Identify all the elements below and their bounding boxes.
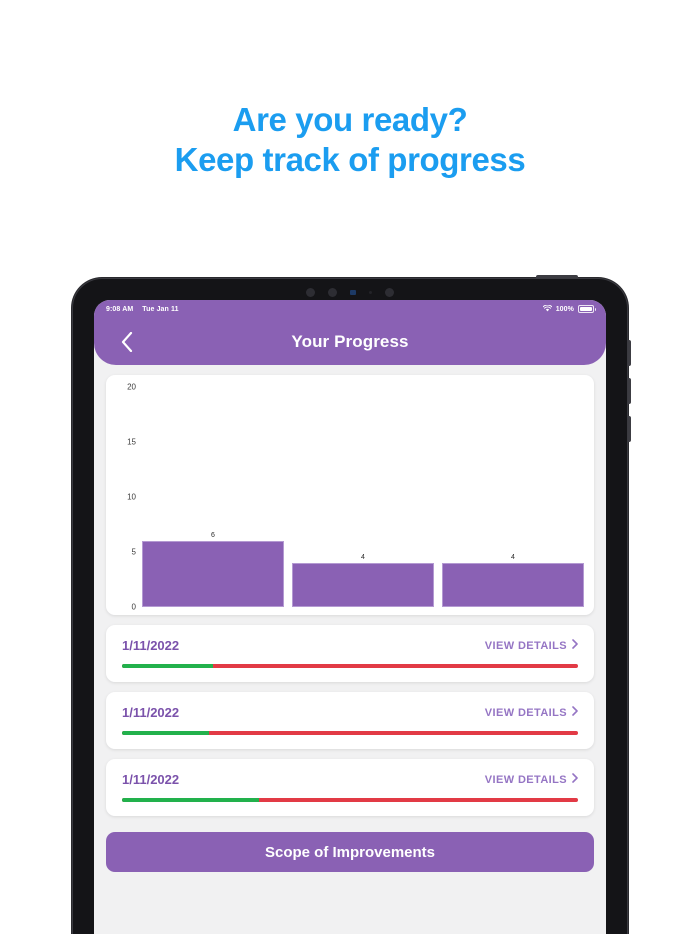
back-button[interactable] bbox=[114, 329, 140, 355]
chart-bar[interactable] bbox=[442, 563, 584, 607]
battery-icon bbox=[578, 305, 594, 313]
chart-y-tick: 20 bbox=[127, 383, 136, 392]
chart-bar-column[interactable]: 6 bbox=[142, 387, 284, 607]
chart-y-tick: 0 bbox=[132, 603, 136, 612]
entry-header-row: 1/11/2022VIEW DETAILS bbox=[122, 705, 578, 720]
proximity-sensor-icon bbox=[350, 290, 356, 295]
entry-header-row: 1/11/2022VIEW DETAILS bbox=[122, 772, 578, 787]
progress-entry-card[interactable]: 1/11/2022VIEW DETAILS bbox=[106, 625, 594, 682]
front-camera-strip bbox=[285, 285, 415, 299]
chart-bar-value-label: 6 bbox=[142, 532, 284, 539]
entry-header-row: 1/11/2022VIEW DETAILS bbox=[122, 638, 578, 653]
camera-dot-icon bbox=[306, 288, 315, 297]
entry-progress-bar bbox=[122, 664, 578, 668]
entry-date: 1/11/2022 bbox=[122, 705, 179, 720]
tablet-device-frame: 9:08 AM Tue Jan 11 100% bbox=[72, 278, 628, 934]
chart-y-tick: 15 bbox=[127, 438, 136, 447]
entry-date: 1/11/2022 bbox=[122, 638, 179, 653]
entry-progress-green-segment bbox=[122, 731, 209, 735]
chart-bar-value-label: 4 bbox=[292, 554, 434, 561]
progress-entry-card[interactable]: 1/11/2022VIEW DETAILS bbox=[106, 759, 594, 816]
chart-bar[interactable] bbox=[142, 541, 284, 607]
chevron-right-icon bbox=[572, 639, 578, 652]
page-root: Are you ready? Keep track of progress 9:… bbox=[0, 0, 700, 934]
bar-chart: 05101520 644 bbox=[116, 387, 584, 607]
chevron-right-icon bbox=[572, 706, 578, 719]
view-details-link[interactable]: VIEW DETAILS bbox=[485, 706, 578, 719]
screen-title: Your Progress bbox=[94, 332, 606, 352]
power-button[interactable] bbox=[536, 275, 578, 278]
chart-bar-column[interactable]: 4 bbox=[442, 387, 584, 607]
cta-label: Scope of Improvements bbox=[265, 844, 435, 861]
volume-up-button[interactable] bbox=[628, 340, 631, 366]
entry-progress-green-segment bbox=[122, 798, 259, 802]
chevron-left-icon bbox=[121, 332, 133, 352]
chevron-right-icon bbox=[572, 773, 578, 786]
progress-entry-card[interactable]: 1/11/2022VIEW DETAILS bbox=[106, 692, 594, 749]
view-details-label: VIEW DETAILS bbox=[485, 640, 567, 652]
chart-bar-value-label: 4 bbox=[442, 554, 584, 561]
page-title: Are you ready? Keep track of progress bbox=[0, 100, 700, 180]
screen-content: 05101520 644 1/11/2022VIEW DETAILS1/11/2… bbox=[94, 365, 606, 872]
status-bar-right: 100% bbox=[543, 305, 594, 314]
chart-plot-area: 644 bbox=[142, 387, 584, 607]
wifi-icon bbox=[543, 305, 552, 314]
status-bar: 9:08 AM Tue Jan 11 100% bbox=[94, 300, 606, 318]
app-header: Your Progress bbox=[94, 318, 606, 365]
side-button-3[interactable] bbox=[628, 416, 631, 442]
scope-of-improvements-button[interactable]: Scope of Improvements bbox=[106, 832, 594, 872]
entry-progress-bar bbox=[122, 731, 578, 735]
camera-dot-secondary-icon bbox=[385, 288, 394, 297]
volume-down-button[interactable] bbox=[628, 378, 631, 404]
headline-line-1: Are you ready? bbox=[233, 101, 468, 138]
entry-progress-green-segment bbox=[122, 664, 213, 668]
tablet-screen: 9:08 AM Tue Jan 11 100% bbox=[94, 300, 606, 934]
view-details-label: VIEW DETAILS bbox=[485, 707, 567, 719]
light-sensor-icon bbox=[369, 291, 372, 294]
progress-entry-list: 1/11/2022VIEW DETAILS1/11/2022VIEW DETAI… bbox=[106, 625, 594, 816]
chart-bar-column[interactable]: 4 bbox=[292, 387, 434, 607]
chart-y-tick: 5 bbox=[132, 548, 136, 557]
entry-progress-bar bbox=[122, 798, 578, 802]
chart-y-axis: 05101520 bbox=[116, 387, 142, 607]
view-details-label: VIEW DETAILS bbox=[485, 774, 567, 786]
entry-date: 1/11/2022 bbox=[122, 772, 179, 787]
status-date: Tue Jan 11 bbox=[142, 306, 178, 313]
chart-bar[interactable] bbox=[292, 563, 434, 607]
headline-line-2: Keep track of progress bbox=[0, 140, 700, 180]
progress-chart-card: 05101520 644 bbox=[106, 375, 594, 615]
view-details-link[interactable]: VIEW DETAILS bbox=[485, 639, 578, 652]
battery-percent-label: 100% bbox=[556, 306, 574, 313]
camera-lens-icon bbox=[328, 288, 337, 297]
status-time: 9:08 AM bbox=[106, 306, 133, 313]
chart-y-tick: 10 bbox=[127, 493, 136, 502]
view-details-link[interactable]: VIEW DETAILS bbox=[485, 773, 578, 786]
status-bar-left: 9:08 AM Tue Jan 11 bbox=[106, 306, 179, 313]
